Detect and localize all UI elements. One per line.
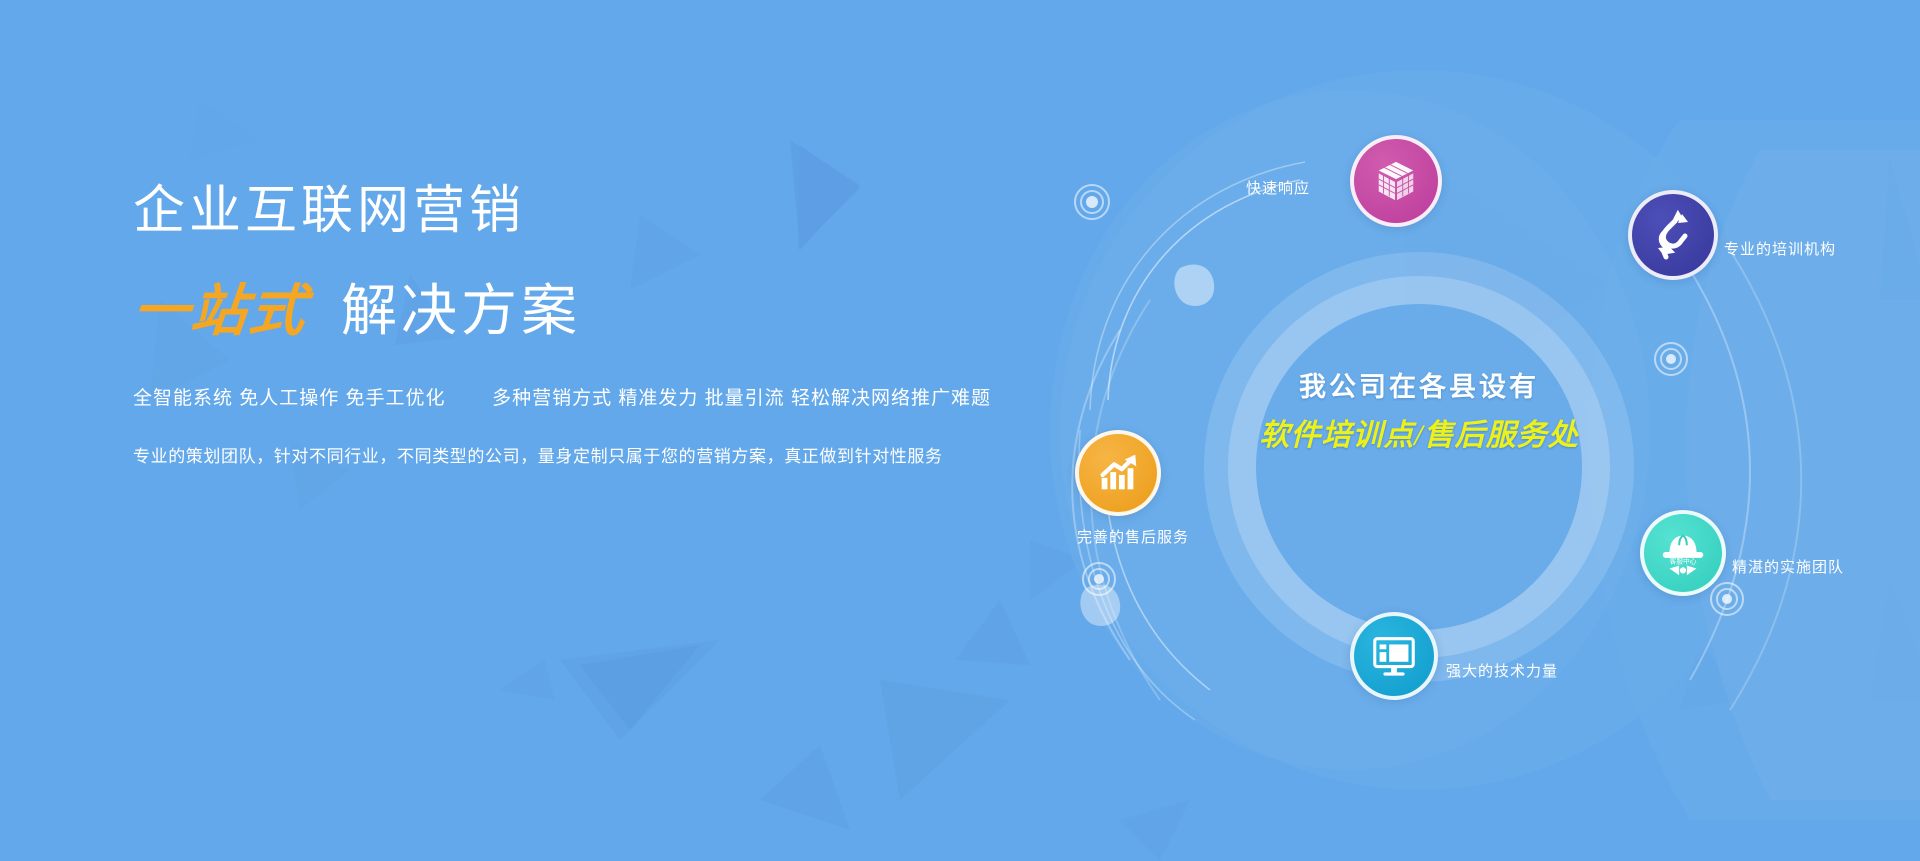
- growth-chart-icon: [1094, 449, 1142, 497]
- headline-accent-text: 一站式: [130, 280, 310, 342]
- fast-response-label: 快速响应: [1246, 177, 1310, 198]
- target-decoration-right-top: [1654, 342, 1688, 376]
- skilled-implementation-label: 精湛的实施团队: [1732, 556, 1844, 577]
- strong-technology-circle[interactable]: [1350, 612, 1438, 700]
- subtitle-1-part-1: 全智能系统 免人工操作 免手工优化: [133, 388, 446, 409]
- subtitle-1-part-2: 多种营销方式 精准发力 批量引流 轻松解决网络推广难题: [492, 388, 991, 409]
- after-sales-service-circle[interactable]: [1075, 430, 1161, 516]
- professional-training-circle[interactable]: [1628, 190, 1718, 280]
- skilled-implementation-circle[interactable]: 客服中心: [1640, 510, 1726, 596]
- s-arrow-icon: [1648, 210, 1698, 260]
- marketing-banner: 企业互联网营销 一站式 解决方案 全智能系统 免人工操作 免手工优化 多种营销方…: [0, 0, 1920, 861]
- infographic-diagram: 我公司在各县设有 软件培训点/售后服务处: [1050, 110, 1910, 810]
- professional-training-label: 专业的培训机构: [1724, 238, 1836, 259]
- cube-icon: [1373, 158, 1419, 204]
- subtitle-line-1: 全智能系统 免人工操作 免手工优化 多种营销方式 精准发力 批量引流 轻松解决网…: [133, 383, 1033, 410]
- headline-rest-text: 解决方案: [341, 280, 581, 342]
- leaf-decorations: [1050, 110, 1910, 810]
- headline-copy-block: 企业互联网营销 一站式 解决方案 全智能系统 免人工操作 免手工优化 多种营销方…: [133, 182, 1033, 467]
- center-message-line-1: 我公司在各县设有: [1256, 365, 1582, 404]
- monitor-icon: [1369, 631, 1419, 681]
- target-decoration-right-bottom: [1710, 582, 1744, 616]
- subtitle-line-2: 专业的策划团队，针对不同行业，不同类型的公司，量身定制只属于您的营销方案，真正做…: [133, 442, 1033, 467]
- center-message: 我公司在各县设有 软件培训点/售后服务处: [1256, 365, 1582, 454]
- center-message-line-2: 软件培训点/售后服务处: [1256, 410, 1582, 454]
- fast-response-circle[interactable]: [1350, 135, 1442, 227]
- target-decoration-top: [1074, 184, 1110, 220]
- after-sales-service-label: 完善的售后服务: [1077, 526, 1189, 547]
- customer-service-text: 客服中心: [1669, 557, 1696, 566]
- target-decoration-left: [1082, 562, 1116, 596]
- customer-service-hat-icon: 客服中心: [1654, 524, 1712, 582]
- strong-technology-label: 强大的技术力量: [1446, 660, 1558, 681]
- headline-primary: 企业互联网营销: [133, 182, 1033, 242]
- headline-secondary: 一站式 解决方案: [133, 280, 1033, 342]
